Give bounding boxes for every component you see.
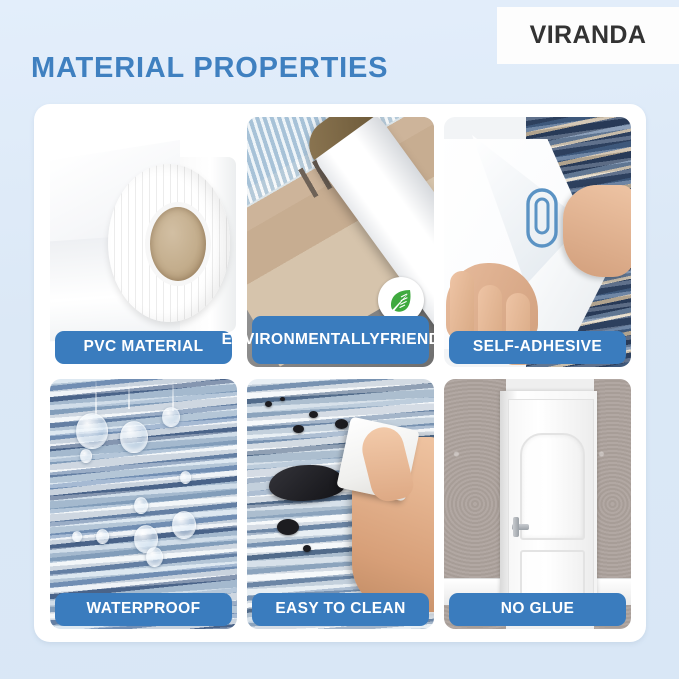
features-panel: PVC MATERIAL [34, 104, 646, 642]
feature-card-self-adhesive[interactable]: SELF-ADHESIVE [444, 117, 631, 367]
page-title: MATERIAL PROPERTIES [31, 52, 388, 85]
feature-card-easy-to-clean[interactable]: EASY TO CLEAN [247, 379, 434, 629]
feature-card-environmentally-friendly[interactable]: ENVIRONMENTALLY FRIENDLY [247, 117, 434, 367]
feature-label-pvc-material: PVC MATERIAL [55, 331, 232, 364]
feature-label-self-adhesive: SELF-ADHESIVE [449, 331, 626, 364]
paperclip-icon [522, 185, 562, 256]
feature-label-no-glue: NO GLUE [449, 593, 626, 626]
features-grid: PVC MATERIAL [50, 117, 630, 629]
feature-label-environmentally-friendly: ENVIRONMENTALLY FRIENDLY [252, 316, 429, 364]
brand-logo: VIRANDA [497, 7, 679, 64]
feature-card-waterproof[interactable]: WATERPROOF [50, 379, 237, 629]
easy-to-clean-image [247, 379, 434, 629]
feature-card-no-glue[interactable]: NO GLUE [444, 379, 631, 629]
poster-background: VIRANDA MATERIAL PROPERTIES PVC MATERIAL [0, 0, 679, 679]
pvc-material-image [50, 117, 237, 367]
feature-label-easy-to-clean: EASY TO CLEAN [252, 593, 429, 626]
brand-logo-text: VIRANDA [530, 21, 647, 50]
self-adhesive-image [444, 117, 631, 367]
waterproof-image [50, 379, 237, 629]
feature-label-waterproof: WATERPROOF [55, 593, 232, 626]
no-glue-image [444, 379, 631, 629]
feature-label-line-1: ENVIRONMENTALLY [222, 332, 380, 348]
feature-card-pvc-material[interactable]: PVC MATERIAL [50, 117, 237, 367]
